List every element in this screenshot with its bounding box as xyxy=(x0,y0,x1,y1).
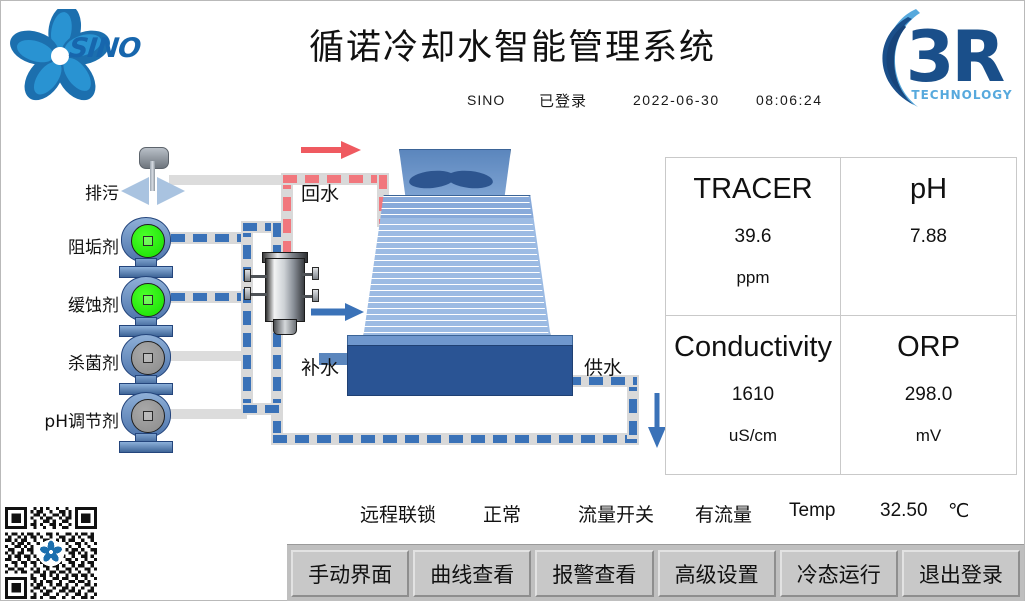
readout-ph: pH 7.88 xyxy=(841,158,1016,316)
readout-orp: ORP 298.0 mV xyxy=(841,316,1016,474)
readout-ph-name: pH xyxy=(910,174,947,206)
readout-tracer: TRACER 39.6 ppm xyxy=(666,158,841,316)
svg-text:TECHNOLOGY: TECHNOLOGY xyxy=(911,88,1012,102)
label-return-water: 回水 xyxy=(301,179,339,206)
temp-unit: ℃ xyxy=(948,500,969,522)
3r-technology-logo: 3R TECHNOLOGY xyxy=(868,3,1018,115)
flow-loop-bottom-left xyxy=(241,403,283,415)
bottom-button-bar: 手动界面 曲线查看 报警查看 高级设置 冷态运行 退出登录 xyxy=(287,544,1024,601)
readout-orp-name: ORP xyxy=(897,332,960,364)
tower-fill-body xyxy=(363,195,549,337)
side-stream-filter-vessel[interactable] xyxy=(261,249,307,341)
readout-tracer-unit: ppm xyxy=(736,268,769,288)
drain-valve-icon[interactable] xyxy=(121,147,185,207)
readout-orp-unit: mV xyxy=(916,426,942,446)
measurement-panel: TRACER 39.6 ppm pH 7.88 Conductivity 161… xyxy=(665,157,1017,475)
pump-ph-adjuster[interactable] xyxy=(119,392,171,454)
qr-code xyxy=(5,507,97,599)
button-manual-interface[interactable]: 手动界面 xyxy=(291,550,409,597)
readout-conductivity-name: Conductivity xyxy=(674,332,832,364)
system-time: 08:06:24 xyxy=(756,92,823,108)
pump-corrosion-inhibitor[interactable] xyxy=(119,276,171,338)
flow-loop-return-main xyxy=(271,433,639,445)
button-alarm-view[interactable]: 报警查看 xyxy=(535,550,653,597)
3r-logo-icon: 3R TECHNOLOGY xyxy=(868,3,1018,115)
pump-antiscalant[interactable] xyxy=(119,217,171,279)
remote-interlock-value: 正常 xyxy=(483,500,521,527)
svg-text:3R: 3R xyxy=(906,16,1005,98)
flow-inhibitor-feed xyxy=(169,291,247,303)
flow-switch-value: 有流量 xyxy=(695,500,752,527)
readout-conductivity-unit: uS/cm xyxy=(729,426,777,446)
readout-conductivity-value: 1610 xyxy=(732,384,774,406)
readout-tracer-value: 39.6 xyxy=(735,226,772,248)
temp-label: Temp xyxy=(789,500,835,522)
header-bar: SINO 循诺冷却水智能管理系统 SINO 已登录 2022-06-30 08:… xyxy=(1,1,1024,119)
status-row: 远程联锁 正常 流量开关 有流量 Temp 32.50 ℃ xyxy=(1,493,1024,533)
flow-loop-left-riser xyxy=(241,221,253,415)
hmi-screen: SINO 循诺冷却水智能管理系统 SINO 已登录 2022-06-30 08:… xyxy=(0,0,1025,601)
readout-conductivity: Conductivity 1610 uS/cm xyxy=(666,316,841,474)
flow-antiscalant-feed xyxy=(169,232,247,244)
label-makeup-water: 补水 xyxy=(301,353,339,380)
pipe-ph-line xyxy=(169,409,247,419)
pipe-drain-line xyxy=(169,175,289,185)
tower-basin xyxy=(347,345,573,396)
readout-orp-value: 298.0 xyxy=(905,384,953,406)
button-cold-start-run[interactable]: 冷态运行 xyxy=(780,550,898,597)
readout-ph-value: 7.88 xyxy=(910,226,947,248)
login-status: 已登录 xyxy=(539,90,587,111)
pump-biocide[interactable] xyxy=(119,334,171,396)
system-date: 2022-06-30 xyxy=(633,92,720,108)
cooling-tower[interactable] xyxy=(347,149,637,399)
user-name: SINO xyxy=(467,92,505,108)
temp-value: 32.50 xyxy=(880,500,928,522)
readout-tracer-name: TRACER xyxy=(693,174,812,206)
button-logout[interactable]: 退出登录 xyxy=(902,550,1020,597)
button-advanced-settings[interactable]: 高级设置 xyxy=(658,550,776,597)
remote-interlock-label: 远程联锁 xyxy=(360,500,436,527)
button-trend-view[interactable]: 曲线查看 xyxy=(413,550,531,597)
flow-switch-label: 流量开关 xyxy=(578,500,654,527)
pipe-biocide-line xyxy=(169,351,247,361)
